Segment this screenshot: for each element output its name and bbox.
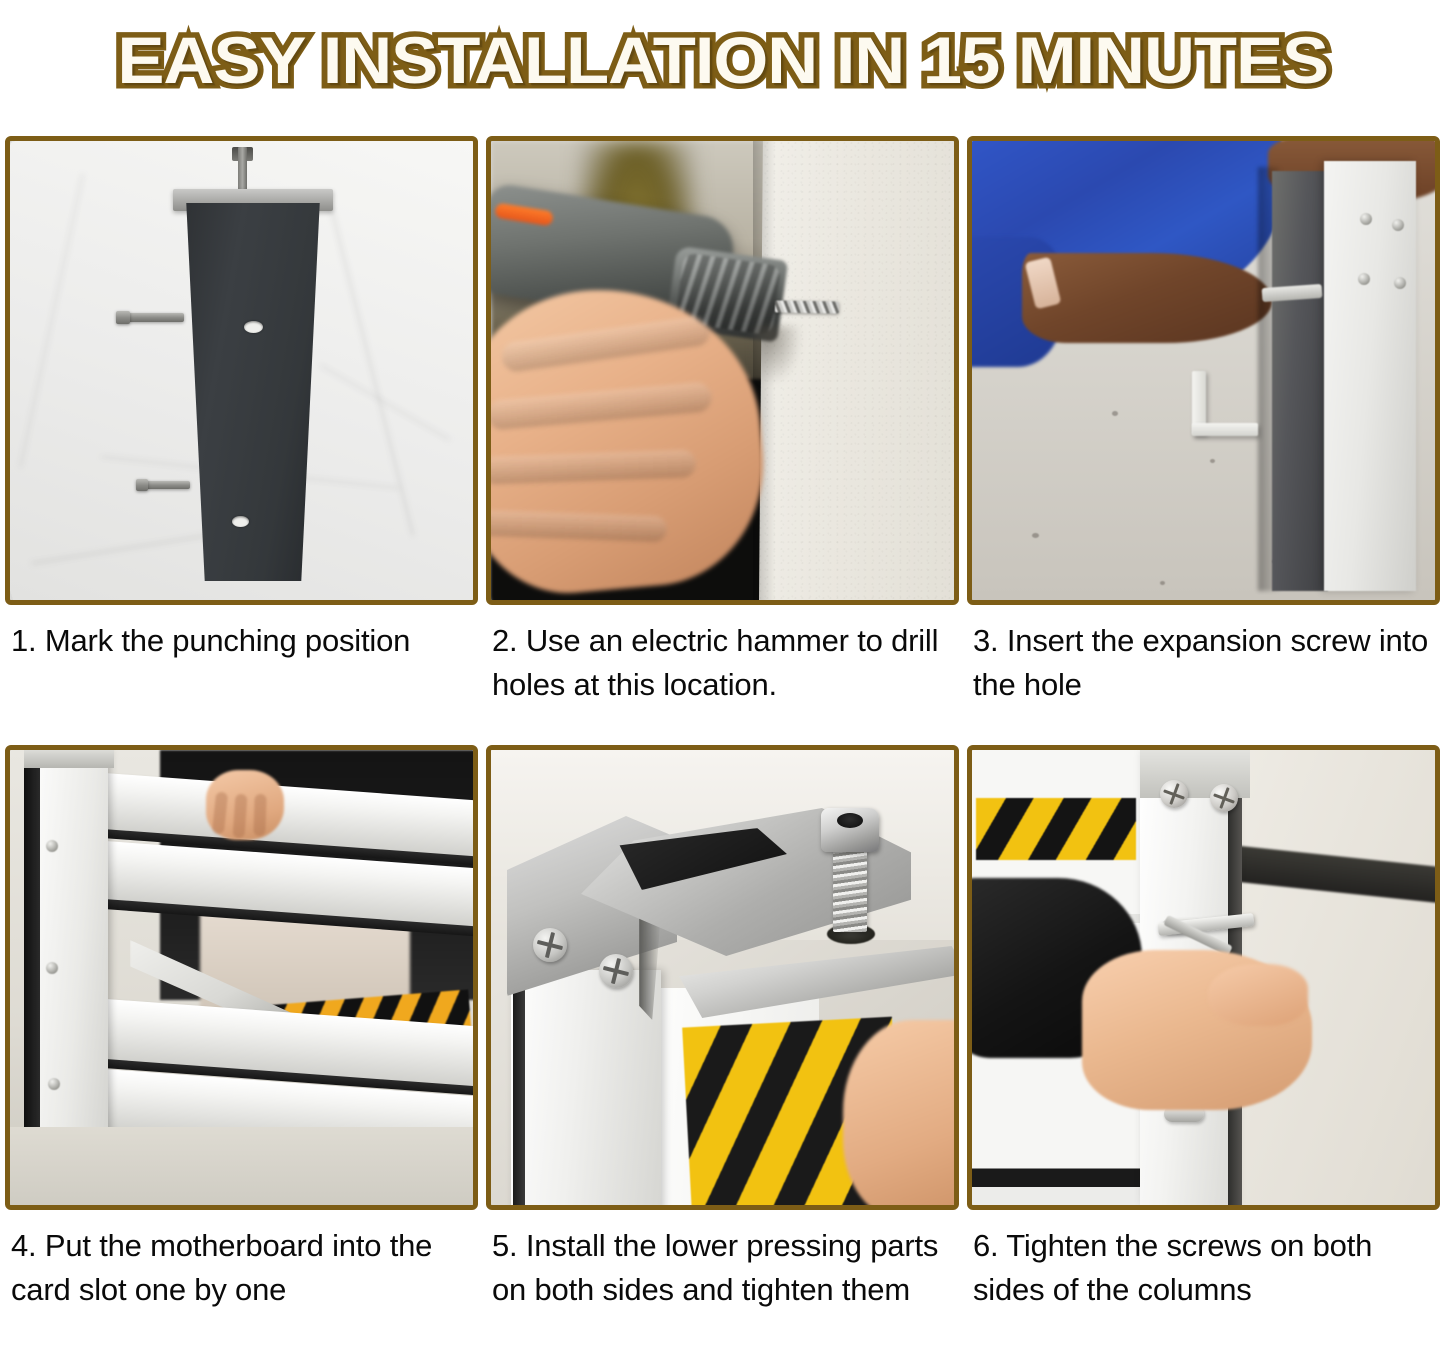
steps-grid: 1. Mark the punching position 2. Use an … — [5, 136, 1440, 1346]
column-dark-face — [1272, 171, 1328, 591]
step-4-photo-insert-boards — [5, 745, 478, 1210]
top-bolt-shaft — [238, 147, 247, 193]
floor-speck — [1112, 411, 1118, 416]
step-3-caption: 3. Insert the expansion screw into the h… — [967, 605, 1440, 745]
bolt-head-upper — [116, 311, 130, 324]
column-screw-top-right — [1210, 784, 1238, 812]
column-screw — [1392, 219, 1404, 231]
floor-speck — [1032, 533, 1039, 538]
step-3-image — [972, 141, 1435, 600]
step-5-caption: 5. Install the lower pressing parts on b… — [486, 1210, 959, 1346]
phillips-screw — [533, 928, 567, 962]
step-1-photo-mark-position — [5, 136, 478, 605]
allen-key-horizontal — [1192, 423, 1258, 436]
column-dark-edge — [513, 970, 525, 1205]
step-1-image — [10, 141, 473, 600]
drill-bit — [775, 300, 839, 313]
floor-speck — [1160, 581, 1165, 585]
white-column — [40, 750, 108, 1170]
page-title: EASY INSTALLATION IN 15 MINUTES — [117, 27, 1328, 93]
column-screw — [1394, 277, 1406, 289]
column-screw — [1358, 273, 1370, 285]
step-2-caption: 2. Use an electric hammer to drill holes… — [486, 605, 959, 745]
step-6-photo-tighten-screws — [967, 745, 1440, 1210]
post-hole-upper — [244, 321, 263, 333]
column-screw — [46, 962, 58, 974]
column-screw — [1360, 213, 1372, 225]
thumb — [1208, 964, 1308, 1026]
step-2-image — [491, 141, 954, 600]
step-4-image — [10, 750, 473, 1205]
column-screw — [48, 1078, 60, 1090]
bolt-threaded-shank — [833, 848, 867, 932]
bolt-head-lower — [136, 479, 148, 491]
column-screw — [46, 840, 58, 852]
step-2-photo-drill-holes — [486, 136, 959, 605]
post-hole-lower — [232, 516, 249, 527]
installation-guide-sheet: EASY INSTALLATION IN 15 MINUTES — [0, 0, 1445, 1352]
step-4-caption: 4. Put the motherboard into the card slo… — [5, 1210, 478, 1346]
white-column — [511, 970, 661, 1205]
hex-bolt-assembly — [821, 808, 879, 938]
drill-dust — [753, 326, 801, 384]
step-6-image — [972, 750, 1435, 1205]
floor-speck — [1210, 459, 1215, 463]
phillips-screw — [599, 954, 633, 988]
finger — [253, 794, 266, 836]
step-6-caption: 6. Tighten the screws on both sides of t… — [967, 1210, 1440, 1346]
step-3-photo-expansion-screw — [967, 136, 1440, 605]
column-screw-top-left — [1160, 780, 1188, 808]
floor-surface — [10, 1127, 473, 1205]
step-1-caption: 1. Mark the punching position — [5, 605, 478, 745]
dark-column-post — [182, 203, 324, 581]
column-top-cap — [24, 750, 114, 768]
hex-socket-hole — [837, 813, 863, 828]
step-5-image — [491, 750, 954, 1205]
step-5-photo-pressing-parts — [486, 745, 959, 1210]
title-banner: EASY INSTALLATION IN 15 MINUTES — [0, 0, 1445, 120]
hazard-stripe-tape — [976, 798, 1136, 860]
